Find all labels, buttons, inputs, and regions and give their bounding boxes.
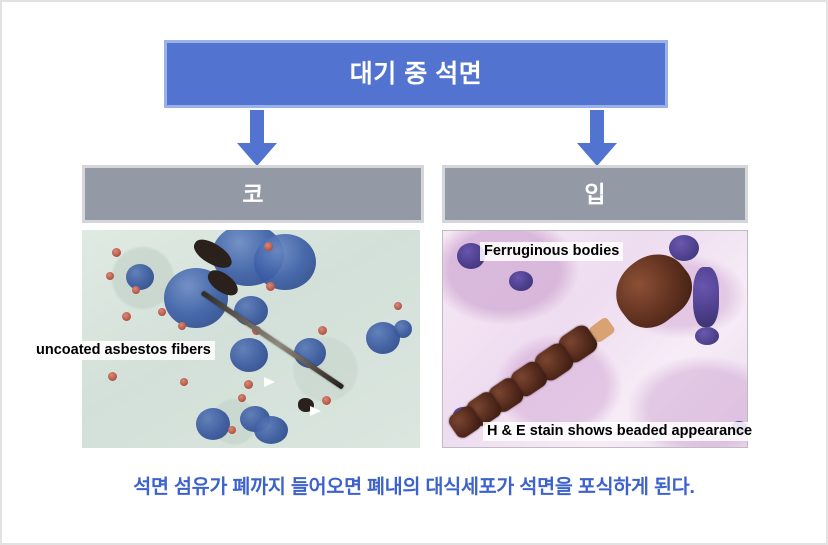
arrow-head: [577, 143, 617, 166]
red-blood-cell: [180, 378, 188, 386]
nucleus: [695, 327, 719, 345]
arrow-shaft: [590, 110, 604, 146]
nucleus: [693, 267, 719, 327]
label-uncoated-asbestos-fibers: uncoated asbestos fibers: [32, 341, 215, 360]
pointer-arrow-icon: [264, 377, 275, 387]
label-he-stain-beaded-appearance: H & E stain shows beaded appearance: [483, 422, 756, 441]
arrow-head: [237, 143, 277, 166]
header-box-nose-label: 코: [242, 183, 263, 206]
top-box-airborne-asbestos: 대기 중 석면: [164, 40, 668, 108]
red-blood-cell: [108, 372, 117, 381]
micrograph-he-mouth: [442, 230, 748, 448]
red-blood-cell: [132, 286, 140, 294]
header-box-nose: 코: [82, 165, 424, 223]
down-arrow-icon-left: [237, 110, 277, 166]
red-blood-cell: [394, 302, 402, 310]
cell: [230, 338, 268, 372]
header-box-mouth: 입: [442, 165, 748, 223]
pointer-arrow-icon: [310, 406, 321, 416]
label-ferruginous-bodies: Ferruginous bodies: [480, 242, 623, 261]
red-blood-cell: [322, 396, 331, 405]
red-blood-cell: [228, 426, 236, 434]
red-blood-cell: [158, 308, 166, 316]
red-blood-cell: [112, 248, 121, 257]
cell: [126, 264, 154, 290]
red-blood-cell: [178, 322, 186, 330]
cell: [196, 408, 230, 440]
arrow-shaft: [250, 110, 264, 146]
red-blood-cell: [238, 394, 246, 402]
red-blood-cell: [264, 242, 273, 251]
red-blood-cell: [266, 282, 275, 291]
red-blood-cell: [122, 312, 131, 321]
header-box-mouth-label: 입: [584, 183, 605, 206]
top-box-label: 대기 중 석면: [350, 62, 482, 87]
cell-cluster: [254, 234, 316, 290]
down-arrow-icon-right: [577, 110, 617, 166]
red-blood-cell: [244, 380, 253, 389]
red-blood-cell: [318, 326, 327, 335]
cell: [234, 296, 268, 326]
cell: [254, 416, 288, 444]
micrograph-cytology-nose: [82, 230, 420, 448]
slide-canvas: 대기 중 석면 코 입: [0, 0, 828, 545]
slide-caption: 석면 섬유가 폐까지 들어오면 폐내의 대식세포가 석면을 포식하게 된다.: [2, 470, 826, 499]
nucleus: [509, 271, 533, 291]
red-blood-cell: [106, 272, 114, 280]
cell: [394, 320, 412, 338]
